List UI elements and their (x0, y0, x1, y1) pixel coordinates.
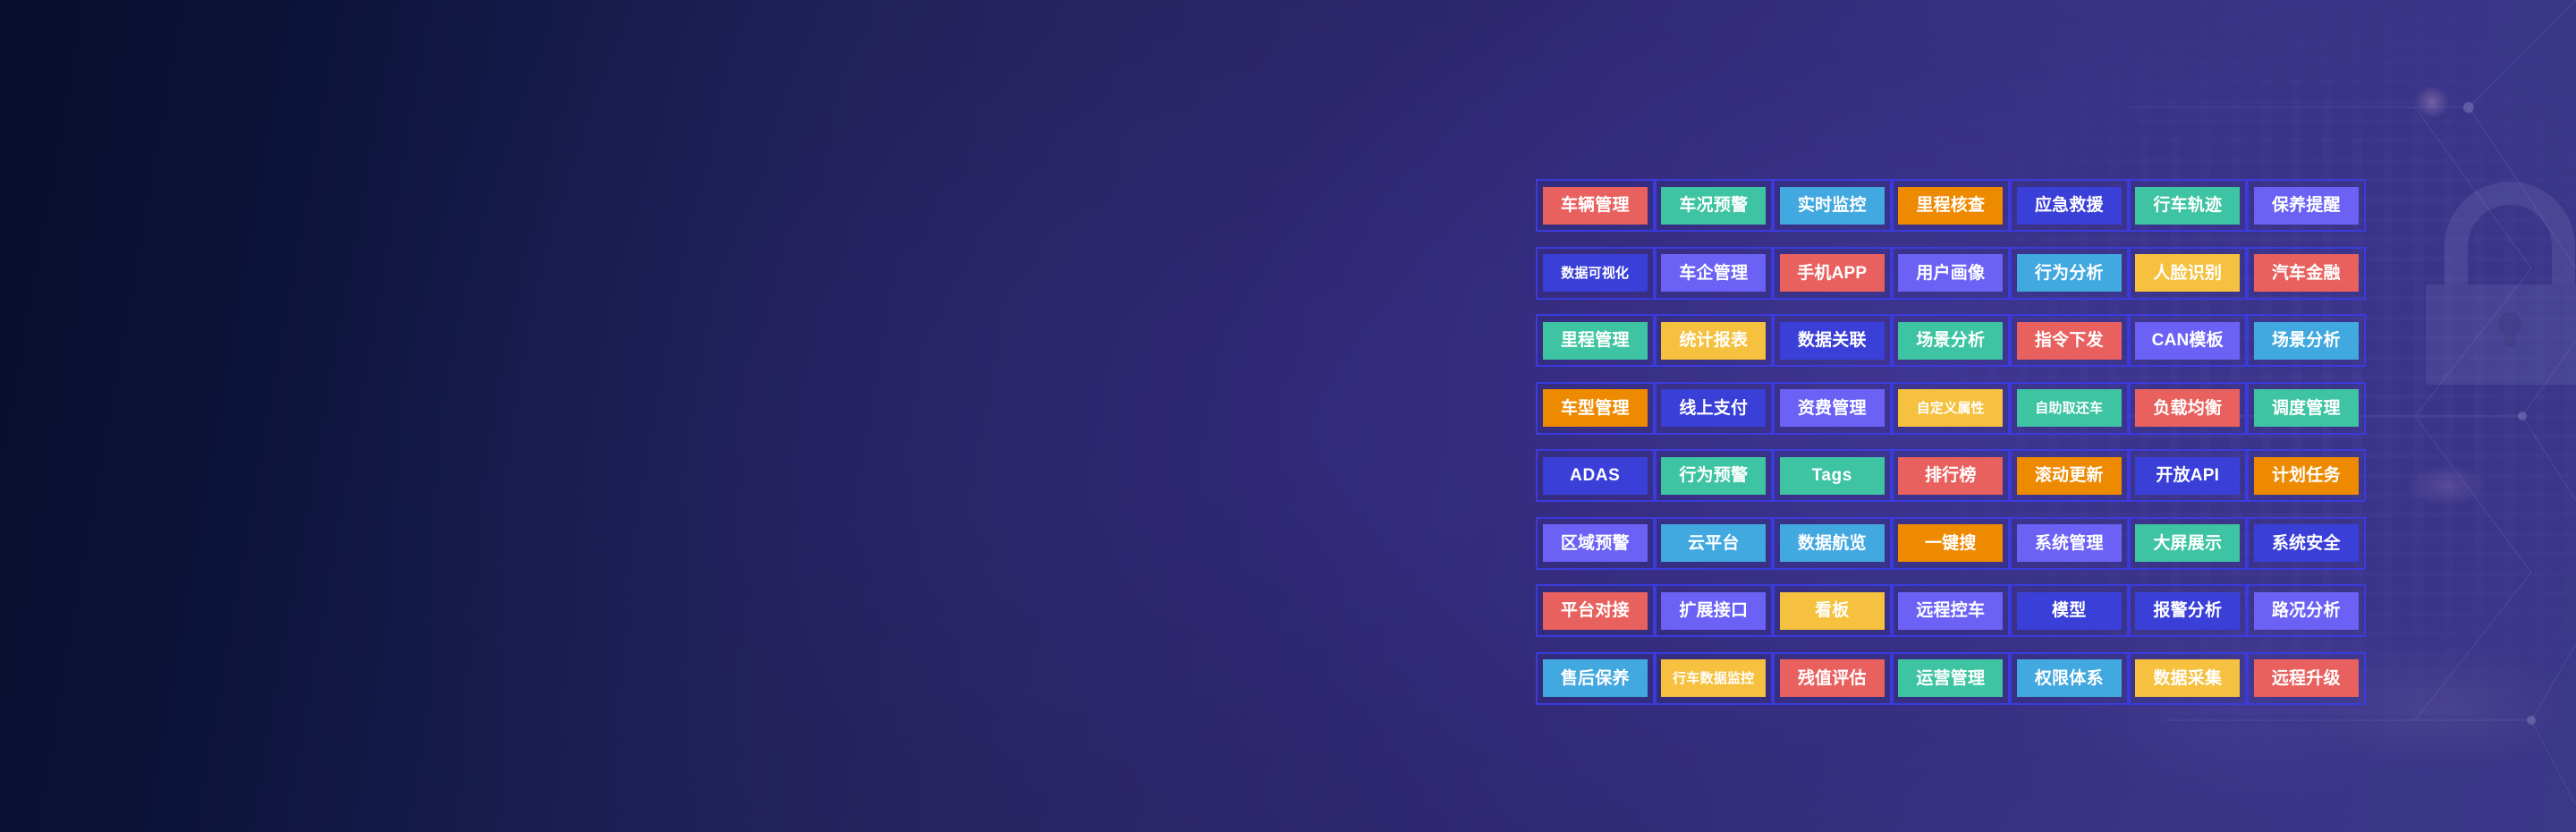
feature-tile-swatch: 行车数据监控 (1661, 659, 1766, 697)
feature-tile[interactable]: 手机APP (1773, 247, 1892, 300)
feature-tile-swatch: 手机APP (1780, 254, 1885, 292)
feature-tile-swatch: 数据可视化 (1543, 254, 1648, 292)
feature-tile-swatch: 行为预警 (1661, 457, 1766, 495)
feature-tile-label: 线上支付 (1679, 400, 1748, 417)
feature-tile-label: 排行榜 (1925, 467, 1977, 484)
feature-tile[interactable]: 看板 (1773, 584, 1892, 637)
feature-tile-swatch: 车型管理 (1543, 389, 1648, 427)
feature-tile-swatch: 用户画像 (1898, 254, 2003, 292)
feature-tile-swatch: 售后保养 (1543, 659, 1648, 697)
feature-tile-label: 车型管理 (1561, 400, 1630, 417)
feature-tile-label: 远程升级 (2272, 670, 2341, 687)
feature-tile-swatch: 远程控车 (1898, 592, 2003, 630)
feature-tile-label: 区域预警 (1561, 535, 1630, 552)
feature-tile-swatch: 统计报表 (1661, 322, 1766, 360)
feature-tile-swatch: 数据航览 (1780, 524, 1885, 562)
feature-tile[interactable]: 自助取还车 (2010, 382, 2129, 435)
feature-tile-swatch: 滚动更新 (2017, 457, 2122, 495)
feature-tile-swatch: 保养提醒 (2254, 187, 2359, 225)
feature-tile[interactable]: 调度管理 (2247, 382, 2366, 435)
feature-tile-swatch: CAN模板 (2135, 322, 2240, 360)
feature-tile-swatch: 自定义属性 (1898, 389, 2003, 427)
feature-tile-swatch: 应急救援 (2017, 187, 2122, 225)
feature-tile-swatch: 汽车金融 (2254, 254, 2359, 292)
feature-tile[interactable]: 自定义属性 (1892, 382, 2011, 435)
feature-tile[interactable]: 指令下发 (2010, 314, 2129, 367)
tile-row: 车辆管理车况预警实时监控里程核查应急救援行车轨迹保养提醒 (1536, 179, 2366, 232)
feature-tile-swatch: 数据关联 (1780, 322, 1885, 360)
feature-tile-label: 滚动更新 (2035, 467, 2104, 484)
feature-tile-label: 计划任务 (2272, 467, 2341, 484)
feature-tile[interactable]: 运营管理 (1892, 652, 2011, 705)
feature-tile[interactable]: 大屏展示 (2129, 517, 2248, 570)
tile-row: 里程管理统计报表数据关联场景分析指令下发CAN模板场景分析 (1536, 314, 2366, 367)
feature-tile-swatch: 报警分析 (2135, 592, 2240, 630)
feature-tile-swatch: 一键搜 (1898, 524, 2003, 562)
feature-tile[interactable]: 应急救援 (2010, 179, 2129, 232)
feature-tile-swatch: Tags (1780, 457, 1885, 495)
feature-tile-label: 模型 (2052, 602, 2086, 619)
feature-tile-label: 里程管理 (1561, 332, 1630, 349)
feature-tile-label: 售后保养 (1561, 670, 1630, 687)
feature-tile[interactable]: 保养提醒 (2247, 179, 2366, 232)
feature-tile-swatch: ADAS (1543, 457, 1648, 495)
tile-row: 车型管理线上支付资费管理自定义属性自助取还车负载均衡调度管理 (1536, 382, 2366, 435)
feature-tile[interactable]: 用户画像 (1892, 247, 2011, 300)
feature-tile-label: 人脸识别 (2153, 265, 2222, 282)
feature-tile-label: 系统安全 (2272, 535, 2341, 552)
feature-tile[interactable]: 线上支付 (1655, 382, 1774, 435)
feature-tile[interactable]: 排行榜 (1892, 449, 2011, 502)
feature-tile[interactable]: 车型管理 (1536, 382, 1655, 435)
feature-tile[interactable]: 系统安全 (2247, 517, 2366, 570)
feature-tile[interactable]: 行为预警 (1655, 449, 1774, 502)
feature-tile[interactable]: 云平台 (1655, 517, 1774, 570)
feature-tile[interactable]: 资费管理 (1773, 382, 1892, 435)
feature-tile-swatch: 系统安全 (2254, 524, 2359, 562)
feature-tile[interactable]: 场景分析 (1892, 314, 2011, 367)
feature-tile-swatch: 自助取还车 (2017, 389, 2122, 427)
feature-tile[interactable]: 滚动更新 (2010, 449, 2129, 502)
feature-tile-label: 云平台 (1688, 535, 1740, 552)
feature-tile-swatch: 云平台 (1661, 524, 1766, 562)
glow-accent-top (2415, 85, 2449, 119)
feature-tile-swatch: 人脸识别 (2135, 254, 2240, 292)
feature-tile-swatch: 场景分析 (1898, 322, 2003, 360)
feature-tile[interactable]: 里程管理 (1536, 314, 1655, 367)
feature-tile[interactable]: 行车轨迹 (2129, 179, 2248, 232)
tile-row: 售后保养行车数据监控残值评估运营管理权限体系数据采集远程升级 (1536, 652, 2366, 705)
feature-tile-label: 数据关联 (1798, 332, 1867, 349)
feature-tile[interactable]: CAN模板 (2129, 314, 2248, 367)
feature-tile-label: 行车轨迹 (2153, 197, 2222, 214)
feature-tile[interactable]: 权限体系 (2010, 652, 2129, 705)
feature-tile-swatch: 车辆管理 (1543, 187, 1648, 225)
feature-tile-label: 自定义属性 (1917, 402, 1985, 415)
feature-tile-label: 数据航览 (1798, 535, 1867, 552)
feature-tile[interactable]: 数据航览 (1773, 517, 1892, 570)
feature-tile-swatch: 车企管理 (1661, 254, 1766, 292)
feature-tile-label: 指令下发 (2035, 332, 2104, 349)
feature-tile[interactable]: 实时监控 (1773, 179, 1892, 232)
tile-row: ADAS行为预警Tags排行榜滚动更新开放API计划任务 (1536, 449, 2366, 502)
feature-tile[interactable]: 平台对接 (1536, 584, 1655, 637)
feature-tile-label: ADAS (1570, 467, 1620, 484)
feature-tile-label: 一键搜 (1925, 535, 1977, 552)
feature-tile-swatch: 平台对接 (1543, 592, 1648, 630)
feature-tile-label: 残值评估 (1798, 670, 1867, 687)
feature-tile[interactable]: 路况分析 (2247, 584, 2366, 637)
feature-tile[interactable]: 车况预警 (1655, 179, 1774, 232)
feature-tile[interactable]: 里程核查 (1892, 179, 2011, 232)
feature-tile-swatch: 资费管理 (1780, 389, 1885, 427)
feature-tile[interactable]: 人脸识别 (2129, 247, 2248, 300)
feature-tile-label: 大屏展示 (2153, 535, 2222, 552)
feature-tile[interactable]: 开放API (2129, 449, 2248, 502)
feature-tile-label: 汽车金融 (2272, 265, 2341, 282)
feature-tile-swatch: 看板 (1780, 592, 1885, 630)
feature-tile[interactable]: 远程升级 (2247, 652, 2366, 705)
feature-tile-swatch: 路况分析 (2254, 592, 2359, 630)
feature-tile[interactable]: 售后保养 (1536, 652, 1655, 705)
feature-tile-label: 报警分析 (2153, 602, 2222, 619)
feature-tile-swatch: 区域预警 (1543, 524, 1648, 562)
feature-tile[interactable]: ADAS (1536, 449, 1655, 502)
feature-tile-swatch: 车况预警 (1661, 187, 1766, 225)
feature-tile-label: 远程控车 (1916, 602, 1985, 619)
feature-tile[interactable]: Tags (1773, 449, 1892, 502)
feature-tile[interactable]: 模型 (2010, 584, 2129, 637)
feature-tile-label: Tags (1812, 467, 1852, 484)
feature-tile-swatch: 负载均衡 (2135, 389, 2240, 427)
feature-tile-label: 权限体系 (2035, 670, 2104, 687)
feature-tile[interactable]: 扩展接口 (1655, 584, 1774, 637)
feature-tile[interactable]: 汽车金融 (2247, 247, 2366, 300)
feature-tile-label: 车况预警 (1679, 197, 1748, 214)
feature-tile-label: 行为分析 (2035, 265, 2104, 282)
feature-tile[interactable]: 残值评估 (1773, 652, 1892, 705)
feature-tile[interactable]: 报警分析 (2129, 584, 2248, 637)
feature-tile[interactable]: 远程控车 (1892, 584, 2011, 637)
feature-tile[interactable]: 统计报表 (1655, 314, 1774, 367)
feature-tile-label: 负载均衡 (2153, 400, 2222, 417)
feature-tile[interactable]: 数据可视化 (1536, 247, 1655, 300)
feature-tile-swatch: 模型 (2017, 592, 2122, 630)
feature-tile-swatch: 行为分析 (2017, 254, 2122, 292)
feature-tile-swatch: 里程管理 (1543, 322, 1648, 360)
feature-tile-label: 开放API (2156, 467, 2219, 484)
feature-tile-label: 资费管理 (1798, 400, 1867, 417)
feature-tile[interactable]: 计划任务 (2247, 449, 2366, 502)
feature-tile-label: 车辆管理 (1561, 197, 1630, 214)
feature-tile-swatch: 行车轨迹 (2135, 187, 2240, 225)
feature-tile-label: 场景分析 (2272, 332, 2341, 349)
feature-tile-label: 手机APP (1797, 265, 1867, 282)
feature-tile-label: 自助取还车 (2035, 402, 2103, 415)
feature-tile[interactable]: 车企管理 (1655, 247, 1774, 300)
feature-tile-swatch: 调度管理 (2254, 389, 2359, 427)
feature-tile-swatch: 开放API (2135, 457, 2240, 495)
feature-tile[interactable]: 区域预警 (1536, 517, 1655, 570)
feature-tile-label: 路况分析 (2272, 602, 2341, 619)
feature-tile-swatch: 计划任务 (2254, 457, 2359, 495)
feature-tile-label: 场景分析 (1916, 332, 1985, 349)
feature-tile-swatch: 里程核查 (1898, 187, 2003, 225)
feature-tile-label: 平台对接 (1561, 602, 1630, 619)
feature-tile[interactable]: 数据采集 (2129, 652, 2248, 705)
page-background: 车辆管理车况预警实时监控里程核查应急救援行车轨迹保养提醒数据可视化车企管理手机A… (0, 0, 2576, 832)
feature-tile-swatch: 扩展接口 (1661, 592, 1766, 630)
feature-tile-swatch: 系统管理 (2017, 524, 2122, 562)
feature-tile[interactable]: 数据关联 (1773, 314, 1892, 367)
feature-tile[interactable]: 系统管理 (2010, 517, 2129, 570)
feature-tile-swatch: 实时监控 (1780, 187, 1885, 225)
tile-row: 区域预警云平台数据航览一键搜系统管理大屏展示系统安全 (1536, 517, 2366, 570)
feature-tile-swatch: 权限体系 (2017, 659, 2122, 697)
feature-tile-label: 调度管理 (2272, 400, 2341, 417)
feature-tile-label: 实时监控 (1798, 197, 1867, 214)
tile-row: 平台对接扩展接口看板远程控车模型报警分析路况分析 (1536, 584, 2366, 637)
feature-tile-label: 车企管理 (1679, 265, 1748, 282)
feature-tile[interactable]: 车辆管理 (1536, 179, 1655, 232)
feature-tile-label: 扩展接口 (1679, 602, 1748, 619)
feature-tile[interactable]: 场景分析 (2247, 314, 2366, 367)
feature-tile-swatch: 指令下发 (2017, 322, 2122, 360)
feature-tile[interactable]: 行为分析 (2010, 247, 2129, 300)
feature-tile-label: CAN模板 (2152, 332, 2224, 349)
feature-tile-label: 应急救援 (2035, 197, 2104, 214)
feature-tile-swatch: 线上支付 (1661, 389, 1766, 427)
feature-tile-label: 数据采集 (2153, 670, 2222, 687)
feature-tile[interactable]: 行车数据监控 (1655, 652, 1774, 705)
feature-tile-label: 用户画像 (1916, 265, 1985, 282)
feature-tile[interactable]: 一键搜 (1892, 517, 2011, 570)
feature-tile-label: 数据可视化 (1561, 267, 1629, 280)
feature-tile-label: 运营管理 (1916, 670, 1985, 687)
tile-row: 数据可视化车企管理手机APP用户画像行为分析人脸识别汽车金融 (1536, 247, 2366, 300)
feature-tile-label: 行车数据监控 (1673, 672, 1754, 685)
feature-tile[interactable]: 负载均衡 (2129, 382, 2248, 435)
feature-tile-swatch: 场景分析 (2254, 322, 2359, 360)
feature-tile-label: 系统管理 (2035, 535, 2104, 552)
feature-tile-label: 保养提醒 (2272, 197, 2341, 214)
lock-body-icon (2426, 284, 2576, 385)
feature-tile-swatch: 残值评估 (1780, 659, 1885, 697)
feature-tile-label: 行为预警 (1679, 467, 1748, 484)
feature-tile-label: 里程核查 (1916, 197, 1985, 214)
lock-icon (2456, 193, 2563, 284)
feature-tile-swatch: 大屏展示 (2135, 524, 2240, 562)
glow-accent-right (2406, 465, 2487, 506)
feature-tile-label: 统计报表 (1679, 332, 1748, 349)
feature-tile-grid: 车辆管理车况预警实时监控里程核查应急救援行车轨迹保养提醒数据可视化车企管理手机A… (1536, 179, 2366, 705)
feature-tile-swatch: 运营管理 (1898, 659, 2003, 697)
feature-tile-swatch: 远程升级 (2254, 659, 2359, 697)
feature-tile-swatch: 排行榜 (1898, 457, 2003, 495)
feature-tile-label: 看板 (1815, 602, 1849, 619)
feature-tile-swatch: 数据采集 (2135, 659, 2240, 697)
